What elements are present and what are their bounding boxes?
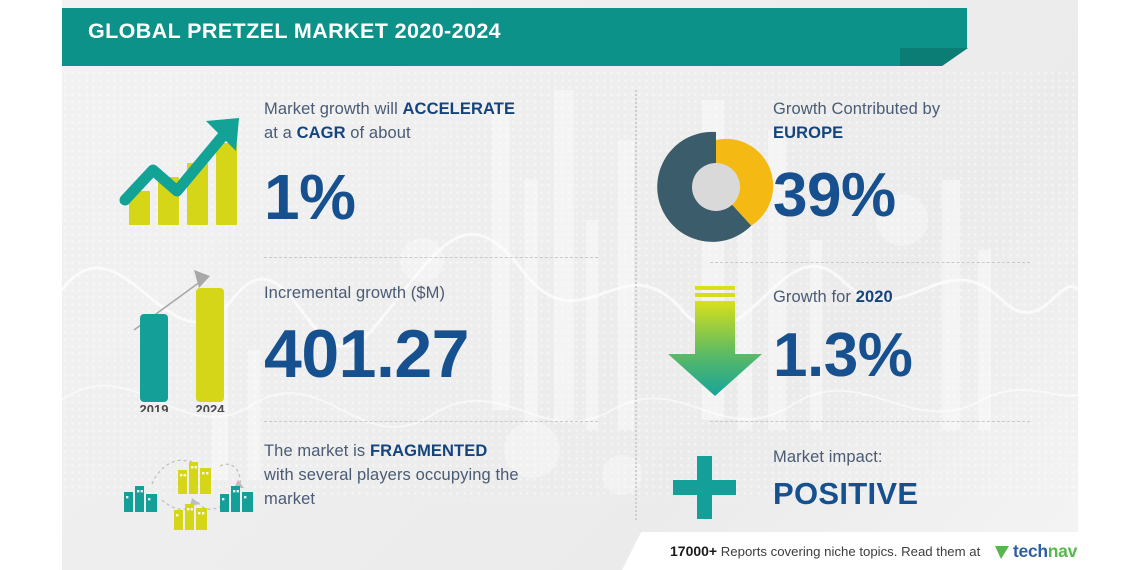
market-impact-value: POSITIVE [773, 476, 918, 512]
fragmentation-line3: market [264, 490, 315, 508]
growth-2020-caption-bold: 2020 [856, 288, 893, 306]
regional-caption-pre: Growth Contributed by [773, 100, 940, 118]
down-arrow-icon [660, 282, 770, 405]
incremental-growth-caption: Incremental growth ($M) [264, 282, 445, 306]
plus-icon [667, 450, 743, 531]
cagr-caption: Market growth will ACCELERATE at a CAGR … [264, 98, 604, 146]
growth-2020-caption-pre: Growth for [773, 288, 856, 306]
cagr-caption-line2-bold: CAGR [297, 124, 346, 142]
fragmentation-line1-pre: The market is [264, 442, 370, 460]
footer-bar: 17000+ Reports covering niche topics. Re… [622, 532, 1078, 570]
column-divider [635, 90, 637, 520]
divider-right-1 [710, 262, 1030, 263]
incremental-growth-value: 401.27 [264, 320, 469, 388]
technavio-logo[interactable]: technavio® [994, 541, 1078, 562]
infographic-root: GLOBAL PRETZEL MARKET 2020-2024 [0, 0, 1140, 570]
footer-report-count: 17000+ [670, 543, 717, 559]
svg-text:2019: 2019 [140, 402, 169, 412]
regional-contribution-value: 39% [773, 165, 896, 227]
page-title: GLOBAL PRETZEL MARKET 2020-2024 [88, 19, 501, 44]
fragmentation-line1-bold: FRAGMENTED [370, 442, 487, 460]
svg-text:2024: 2024 [196, 402, 226, 412]
cagr-value: 1% [264, 165, 356, 229]
technavio-logo-mark-icon [994, 543, 1011, 561]
technavio-logo-navio: navio [1048, 541, 1078, 562]
infographic-card: GLOBAL PRETZEL MARKET 2020-2024 [62, 0, 1078, 570]
divider-right-2 [710, 421, 1030, 422]
buildings-network-icon [120, 448, 260, 541]
cagr-caption-line2-pre: at a [264, 124, 297, 142]
divider-left-2 [264, 421, 598, 422]
cagr-caption-line1-bold: ACCELERATE [403, 100, 516, 118]
donut-chart-icon [657, 128, 775, 251]
market-impact-caption: Market impact: [773, 446, 883, 470]
regional-contribution-caption: Growth Contributed by EUROPE [773, 98, 1073, 146]
fragmentation-caption: The market is FRAGMENTED with several pl… [264, 440, 614, 512]
banner-fold-corner [900, 48, 968, 66]
footer-text: 17000+ Reports covering niche topics. Re… [670, 543, 980, 559]
divider-left-1 [264, 257, 598, 258]
fragmentation-line2: with several players occupying the [264, 466, 519, 484]
cagr-caption-line1-pre: Market growth will [264, 100, 403, 118]
footer-caption: Reports covering niche topics. Read them… [721, 544, 981, 559]
two-bar-growth-icon: 2019 2024 [112, 262, 252, 417]
regional-caption-bold: EUROPE [773, 124, 843, 142]
growth-2020-value: 1.3% [773, 325, 912, 387]
growth-arrow-chart-icon [115, 105, 255, 235]
technavio-logo-tech: tech [1013, 541, 1048, 562]
cagr-caption-line2-post: of about [346, 124, 411, 142]
growth-2020-caption: Growth for 2020 [773, 286, 893, 310]
